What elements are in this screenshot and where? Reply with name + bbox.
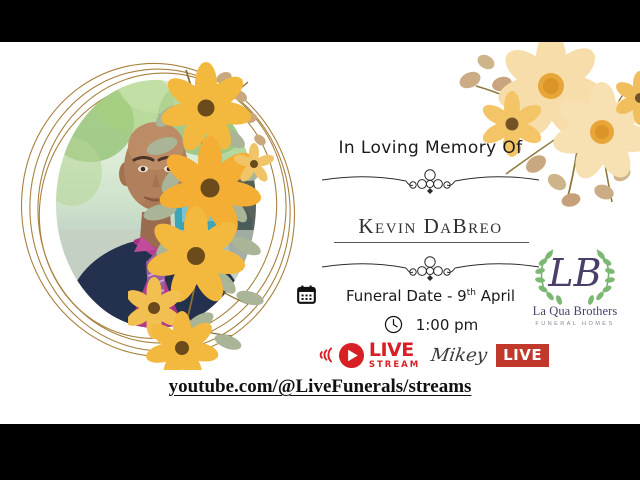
livestream-badges: LIVE STREAM Mikey LIVE	[298, 338, 568, 372]
mikey-wordmark: Mikey	[430, 345, 489, 366]
mikey-live-badge: LIVE	[496, 344, 549, 367]
funeral-home-name: La Qua Brothers	[523, 304, 627, 319]
youtube-url-link[interactable]: youtube.com/@LiveFunerals/streams	[0, 376, 640, 398]
funeral-date-ordinal: th	[467, 288, 476, 298]
memorial-text-column: In Loving Memory Of Kevin DaBreo	[258, 42, 640, 424]
live-stream-live-text: LIVE	[369, 341, 420, 360]
live-stream-logo: LIVE STREAM	[317, 341, 420, 370]
ornamental-divider-bottom	[318, 255, 543, 281]
letterbox-bottom	[0, 424, 640, 480]
live-stream-wordmark: LIVE STREAM	[369, 341, 420, 370]
funeral-home-logo: LB La Qua Brothers FUNERAL HOMES	[523, 240, 627, 340]
memorial-card: In Loving Memory Of Kevin DaBreo	[0, 42, 640, 424]
broadcast-waves-icon	[317, 342, 334, 368]
funeral-date-text: Funeral Date - 9th April	[346, 287, 515, 305]
deceased-name: Kevin DaBreo	[258, 214, 603, 239]
memorial-heading: In Loving Memory Of	[258, 138, 603, 158]
funeral-date-day: Funeral Date - 9	[346, 287, 467, 305]
funeral-time-text: 1:00 pm	[416, 316, 479, 334]
name-underline	[334, 242, 529, 243]
laurel-monogram-icon: LB	[523, 240, 627, 306]
play-button-icon[interactable]	[338, 342, 365, 369]
letterbox-top	[0, 0, 640, 42]
funeral-home-subtitle: FUNERAL HOMES	[523, 321, 627, 327]
clock-icon	[383, 314, 404, 335]
calendar-icon	[296, 284, 317, 305]
live-stream-stream-text: STREAM	[369, 361, 420, 370]
monogram-letters: LB	[547, 251, 601, 295]
funeral-date-month: April	[476, 287, 515, 305]
deceased-portrait-photo	[56, 80, 256, 328]
video-frame: In Loving Memory Of Kevin DaBreo	[0, 0, 640, 480]
ornamental-divider-top	[318, 168, 543, 194]
